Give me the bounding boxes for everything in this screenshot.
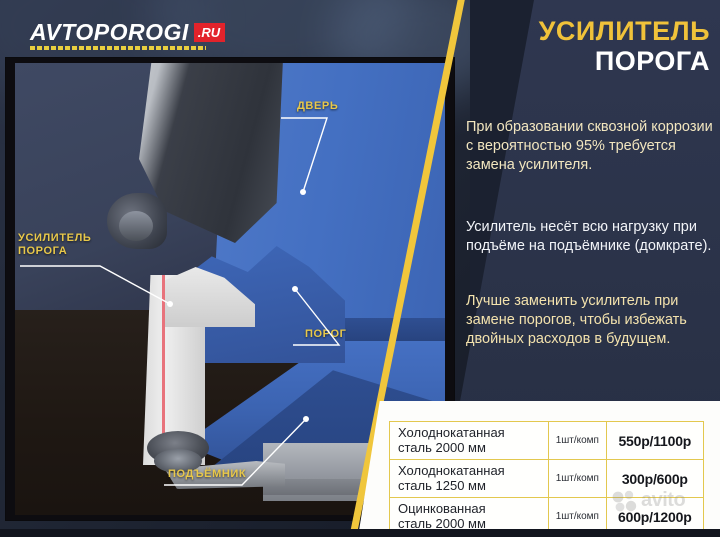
cell-material: Холоднокатанная сталь 2000 мм [390,422,549,460]
title-line-2: ПОРОГА [482,46,710,76]
price-table: Холоднокатанная сталь 2000 мм 1шт/комп 5… [389,421,704,536]
cell-price: 550р/1100р [606,422,703,460]
cell-material: Холоднокатанная сталь 1250 мм [390,460,549,498]
brand-tld: .RU [194,23,225,42]
leader-dot [292,286,298,292]
cell-price: 300р/600р [606,460,703,498]
paragraph-load: Усилитель несёт всю нагрузку при подъёме… [466,218,714,256]
callout-label: ПОРОГ [305,328,346,341]
title-line-1: УСИЛИТЕЛЬ [482,16,710,46]
callout-rocker-panel: ПОРОГ [305,328,346,341]
leader-line [281,118,327,192]
table-row: Холоднокатанная сталь 1250 мм 1шт/комп 3… [390,460,704,498]
brand-name: AVTOPOROGI [30,20,189,44]
page-title: УСИЛИТЕЛЬ ПОРОГА [482,16,710,76]
leader-dot [300,189,306,195]
callout-label: ДВЕРЬ [297,100,338,113]
brand-logo: AVTOPOROGI .RU [30,20,225,44]
promo-image: УСИЛИТЕЛЬ ПОРОГА ДВЕРЬ ПОРОГ ПОДЪЁМНИК [0,0,720,537]
callout-door: ДВЕРЬ [297,100,338,113]
callout-label: УСИЛИТЕЛЬ ПОРОГА [18,232,91,258]
door-hinge-pin [119,211,153,241]
bottom-strip [0,529,720,537]
cell-quantity: 1шт/комп [549,422,607,460]
leader-dot [167,301,173,307]
callout-lift: ПОДЪЁМНИК [168,468,246,481]
leader-line [20,266,170,304]
paragraph-replacement: Лучше заменить усилитель при замене поро… [466,292,714,349]
leader-dot [303,416,309,422]
paragraph-corrosion: При образовании сквозной коррозии с веро… [466,118,714,175]
cell-quantity: 1шт/комп [549,460,607,498]
callout-sill-reinforcement: УСИЛИТЕЛЬ ПОРОГА [18,232,91,258]
callout-label: ПОДЪЁМНИК [168,468,246,481]
logo-underline [30,46,206,50]
table-row: Холоднокатанная сталь 2000 мм 1шт/комп 5… [390,422,704,460]
